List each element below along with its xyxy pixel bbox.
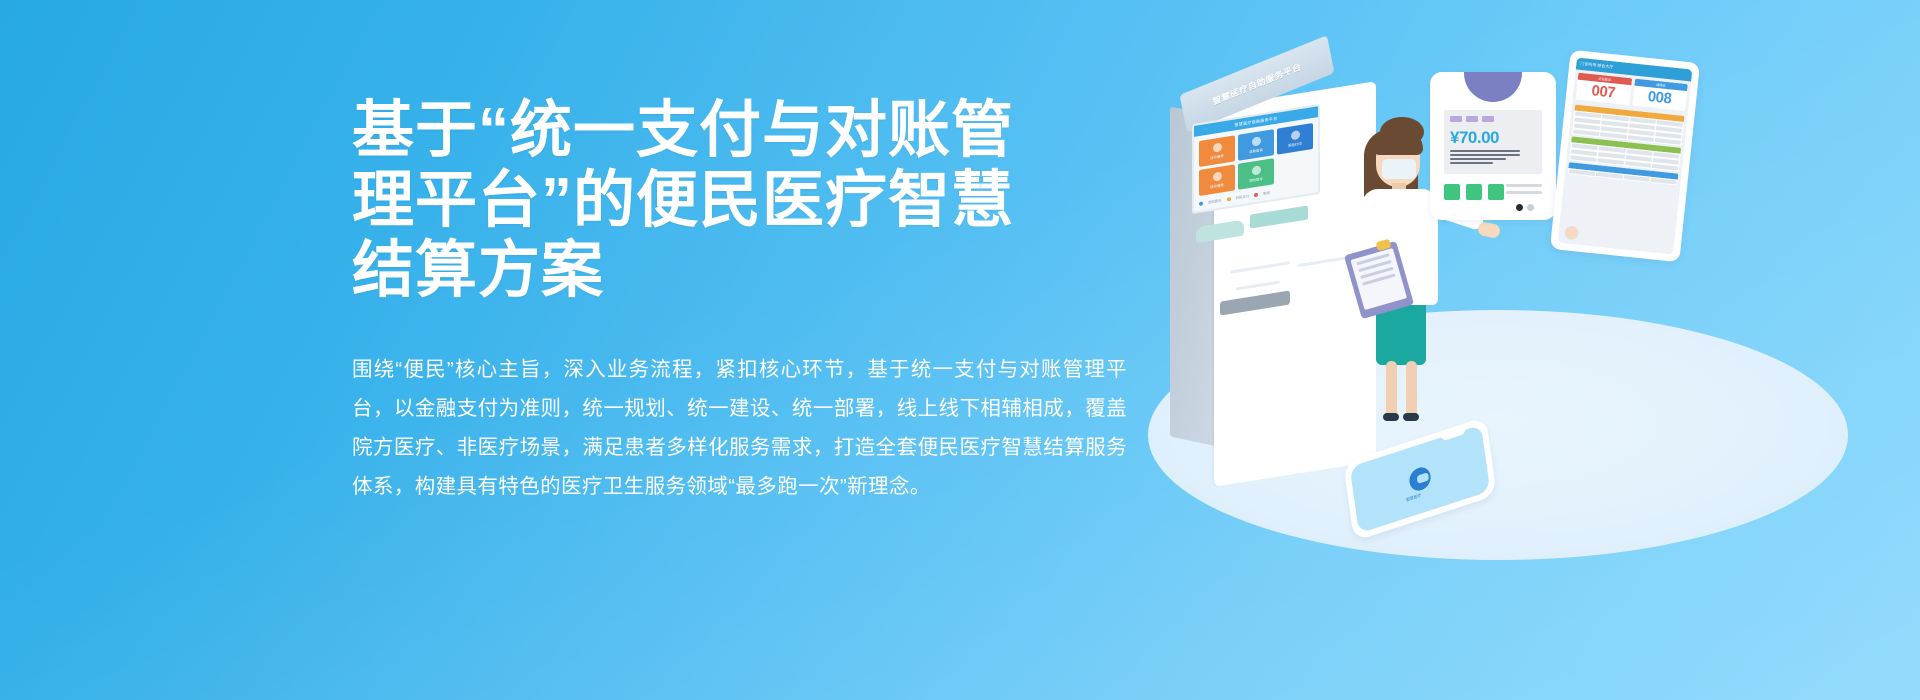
queue-display-inner: 门诊叫号 综合大厅 正在就诊 007 请候诊 008 (1558, 57, 1693, 254)
shoe-left (1383, 413, 1399, 421)
clipboard-paper (1350, 248, 1407, 310)
receipt-status-squares (1444, 184, 1504, 200)
dot (1516, 204, 1523, 211)
queue-ticket-number: 008 (1632, 86, 1687, 111)
avatar (1564, 225, 1579, 240)
page-title: 基于“统一支付与对账管 理平台”的便民医疗智慧 结算方案 (352, 96, 1127, 306)
footer-dot-icon (1199, 201, 1203, 206)
receipt-paper: ¥70.00 (1444, 110, 1542, 174)
queue-ticket-label: 请候诊 (1656, 82, 1666, 88)
tile-icon (1252, 136, 1261, 146)
kiosk-tile-label: 预约取号 (1249, 176, 1263, 183)
queue-display-board: 门诊叫号 综合大厅 正在就诊 007 请候诊 008 (1550, 50, 1700, 262)
fan-decoration (1464, 72, 1522, 102)
tile-icon (1213, 171, 1222, 181)
kiosk-tile-label: 挂号缴费 (1210, 153, 1224, 160)
hair-front (1373, 129, 1423, 155)
bar (1450, 162, 1493, 164)
dot (1527, 204, 1534, 211)
receipt-card: ¥70.00 (1430, 72, 1556, 220)
app-label: 智慧医疗 (1406, 492, 1422, 503)
status-square (1488, 184, 1504, 200)
kiosk-footer-label: 自助服务 (1208, 197, 1222, 204)
receipt-dots (1516, 204, 1534, 211)
receipt-chips (1450, 116, 1494, 122)
chip (1466, 116, 1478, 122)
kiosk-tile[interactable]: 挂号缴费 (1199, 164, 1235, 196)
queue-ticket-number: 007 (1576, 80, 1631, 105)
kiosk-tile[interactable]: 挂号缴费 (1199, 135, 1235, 167)
hero-illustration: 智慧医疗自助服务平台 智慧医疗自助服务平台 挂号缴费 自助查询 (1120, 10, 1920, 700)
kiosk-tile[interactable]: 预约取号 (1238, 158, 1274, 190)
leg-left (1386, 361, 1397, 417)
tile-icon (1291, 130, 1300, 140)
kiosk-tile-label: 报告打印 (1288, 141, 1302, 148)
tile-icon (1213, 142, 1222, 152)
hero-banner: 基于“统一支付与对账管 理平台”的便民医疗智慧 结算方案 围绕“便民”核心主旨，… (0, 0, 1920, 700)
kiosk-footer-label: 扫码支付 (1236, 193, 1250, 200)
footer-dot-icon (1227, 197, 1231, 202)
footer-dot-icon (1254, 192, 1258, 197)
line (1506, 191, 1542, 194)
queue-ticket: 正在就诊 007 (1576, 73, 1632, 105)
queue-display-header-label: 门诊叫号 综合大厅 (1580, 61, 1614, 70)
hero-description: 围绕“便民”核心主旨，深入业务流程，紧扣核心环节，基于统一支付与对账管理平台，以… (352, 350, 1127, 506)
bar (1450, 154, 1520, 156)
receipt-barcode (1450, 150, 1520, 166)
tile-icon (1252, 165, 1261, 175)
status-square (1444, 184, 1460, 200)
bar (1450, 150, 1520, 152)
bar (1450, 158, 1506, 160)
shoe-right (1403, 413, 1419, 421)
leg-right (1406, 361, 1417, 417)
queue-ticket: 请候诊 008 (1632, 79, 1688, 111)
face-mask-icon (1382, 159, 1416, 179)
line (1506, 184, 1542, 187)
receipt-amount: ¥70.00 (1450, 128, 1499, 148)
kiosk-tile[interactable]: 自助查询 (1238, 129, 1274, 161)
receipt-side-lines (1506, 184, 1542, 198)
app-logo-icon: 智慧医疗 (1408, 465, 1432, 494)
kiosk-tile-label: 挂号缴费 (1210, 182, 1224, 189)
hand-right (1477, 221, 1501, 239)
chip (1450, 116, 1462, 122)
kiosk-tray-right (1250, 205, 1308, 228)
kiosk-tile[interactable]: 报告打印 (1277, 123, 1313, 155)
chip (1482, 116, 1494, 122)
hero-text-block: 基于“统一支付与对账管 理平台”的便民医疗智慧 结算方案 围绕“便民”核心主旨，… (352, 96, 1127, 506)
kiosk-tile-label: 自助查询 (1249, 147, 1263, 154)
kiosk-footer-label: 客服 (1263, 190, 1270, 196)
status-square (1466, 184, 1482, 200)
